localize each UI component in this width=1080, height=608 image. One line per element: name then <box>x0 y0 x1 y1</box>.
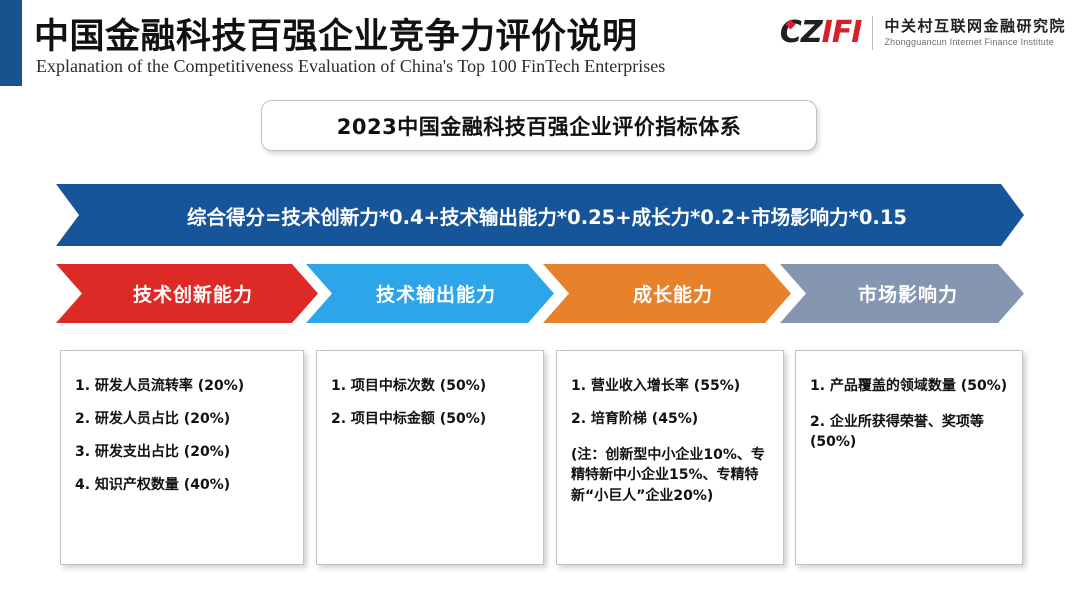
page-title: 中国金融科技百强企业竞争力评价说明 <box>34 8 638 59</box>
indicator-box-market-influence: 1. 产品覆盖的领域数量 (50%)2. 企业所获得荣誉、奖项等 (50%) <box>795 350 1023 565</box>
chevron-label: 成长能力 <box>621 280 713 307</box>
chevron-market-influence: 市场影响力 <box>780 264 1024 323</box>
indicator-item: 2. 研发人员占比 (20%) <box>75 412 289 426</box>
framework-title-text: 2023中国金融科技百强企业评价指标体系 <box>337 111 741 141</box>
chevron-label: 技术输出能力 <box>364 280 496 307</box>
logo-divider <box>872 16 873 50</box>
logo-wordmark-icon: CZ IFI <box>780 18 862 48</box>
chevron-growth: 成长能力 <box>543 264 791 323</box>
logo-name-block: 中关村互联网金融研究院 Zhongguancun Internet Financ… <box>884 17 1066 49</box>
chevron-label: 技术创新能力 <box>121 280 253 307</box>
chevron-label: 市场影响力 <box>846 280 958 307</box>
indicator-item: 3. 研发支出占比 (20%) <box>75 445 289 459</box>
indicator-item: 4. 知识产权数量 (40%) <box>75 478 289 492</box>
slide-root: 中国金融科技百强企业竞争力评价说明 Explanation of the Com… <box>0 0 1080 608</box>
indicator-item: 1. 项目中标次数 (50%) <box>331 379 529 393</box>
indicator-box-technology-output: 1. 项目中标次数 (50%)2. 项目中标金额 (50%) <box>316 350 544 565</box>
organization-logo: CZ IFI 中关村互联网金融研究院 Zhongguancun Internet… <box>780 10 1066 56</box>
indicator-item: 2. 项目中标金额 (50%) <box>331 412 529 426</box>
chevron-technology-innovation: 技术创新能力 <box>56 264 318 323</box>
indicator-item: 1. 研发人员流转率 (20%) <box>75 379 289 393</box>
logo-name-en: Zhongguancun Internet Finance Institute <box>884 37 1066 49</box>
indicator-item: 1. 营业收入增长率 (55%) <box>571 379 769 393</box>
indicator-item: 2. 培育阶梯 (45%) <box>571 412 769 426</box>
indicator-box-technology-innovation: 1. 研发人员流转率 (20%)2. 研发人员占比 (20%)3. 研发支出占比… <box>60 350 304 565</box>
score-formula-text: 综合得分=技术创新力*0.4+技术输出能力*0.25+成长力*0.2+市场影响力… <box>173 201 907 230</box>
logo-name-cn: 中关村互联网金融研究院 <box>884 17 1066 35</box>
chevron-technology-output: 技术输出能力 <box>306 264 554 323</box>
header-accent-bar <box>0 0 22 86</box>
page-subtitle: Explanation of the Competitiveness Evalu… <box>36 56 665 77</box>
indicator-item: 2. 企业所获得荣誉、奖项等 (50%) <box>810 412 1008 453</box>
score-formula-banner: 综合得分=技术创新力*0.4+技术输出能力*0.25+成长力*0.2+市场影响力… <box>56 184 1024 246</box>
dimension-chevron-row: 技术创新能力 技术输出能力 成长能力 市场影响力 <box>56 264 1024 323</box>
indicator-box-row: 1. 研发人员流转率 (20%)2. 研发人员占比 (20%)3. 研发支出占比… <box>60 350 1023 565</box>
logo-ifi-text: IFI <box>822 18 862 48</box>
indicator-box-growth: 1. 营业收入增长率 (55%)2. 培育阶梯 (45%)(注：创新型中小企业1… <box>556 350 784 565</box>
indicator-item: 1. 产品覆盖的领域数量 (50%) <box>810 379 1008 393</box>
indicator-note: (注：创新型中小企业10%、专精特新中小企业15%、专精特新“小巨人”企业20%… <box>571 445 769 506</box>
framework-title-box: 2023中国金融科技百强企业评价指标体系 <box>261 100 817 151</box>
